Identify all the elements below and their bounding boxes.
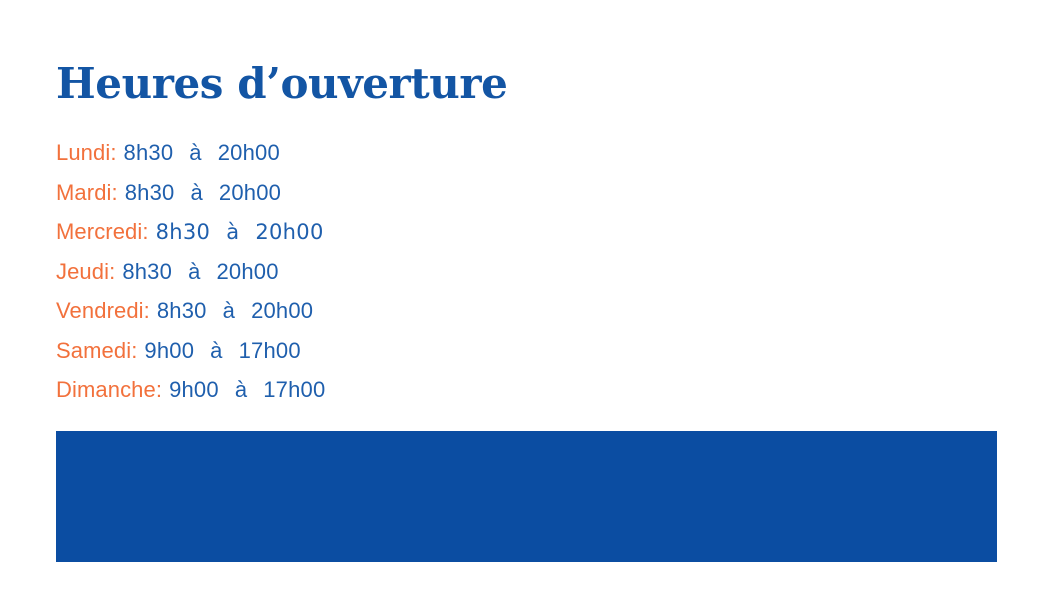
list-item: Jeudi: 8h30 à 20h00 bbox=[56, 252, 936, 292]
time-separator: à bbox=[179, 252, 209, 292]
closing-time: 20h00 bbox=[217, 259, 279, 284]
opening-time: 9h00 bbox=[169, 377, 219, 402]
closing-time: 17h00 bbox=[239, 338, 301, 363]
day-label: Mardi: bbox=[56, 180, 118, 205]
opening-time: 8h30 bbox=[156, 220, 211, 244]
page-title: Heures d’ouverture bbox=[56, 58, 507, 110]
closing-time: 17h00 bbox=[263, 377, 325, 402]
day-label: Mercredi: bbox=[56, 219, 149, 244]
list-item: Dimanche: 9h00 à 17h00 bbox=[56, 370, 936, 410]
time-separator: à bbox=[226, 370, 256, 410]
time-separator: à bbox=[201, 331, 231, 371]
list-item: Mardi: 8h30 à 20h00 bbox=[56, 173, 936, 213]
day-label: Lundi: bbox=[56, 140, 117, 165]
closing-time: 20h00 bbox=[251, 298, 313, 323]
closing-time: 20h00 bbox=[219, 180, 281, 205]
opening-time: 8h30 bbox=[157, 298, 207, 323]
time-separator: à bbox=[181, 173, 211, 213]
opening-hours-list: Lundi: 8h30 à 20h00 Mardi: 8h30 à 20h00 … bbox=[56, 133, 936, 410]
list-item: Lundi: 8h30 à 20h00 bbox=[56, 133, 936, 173]
time-separator: à bbox=[217, 213, 248, 253]
list-item: Mercredi: 8h30 à 20h00 bbox=[56, 212, 936, 252]
day-label: Vendredi: bbox=[56, 298, 150, 323]
list-item: Vendredi: 8h30 à 20h00 bbox=[56, 291, 936, 331]
slide-canvas: Heures d’ouverture Lundi: 8h30 à 20h00 M… bbox=[0, 0, 1050, 600]
time-separator: à bbox=[180, 133, 210, 173]
opening-time: 8h30 bbox=[125, 180, 175, 205]
day-label: Dimanche: bbox=[56, 377, 162, 402]
opening-time: 8h30 bbox=[124, 140, 174, 165]
closing-time: 20h00 bbox=[218, 140, 280, 165]
closing-time: 20h00 bbox=[255, 220, 323, 244]
opening-time: 8h30 bbox=[122, 259, 172, 284]
opening-time: 9h00 bbox=[144, 338, 194, 363]
day-label: Jeudi: bbox=[56, 259, 115, 284]
list-item: Samedi: 9h00 à 17h00 bbox=[56, 331, 936, 371]
day-label: Samedi: bbox=[56, 338, 137, 363]
time-separator: à bbox=[214, 291, 244, 331]
footer-banner bbox=[56, 431, 997, 562]
